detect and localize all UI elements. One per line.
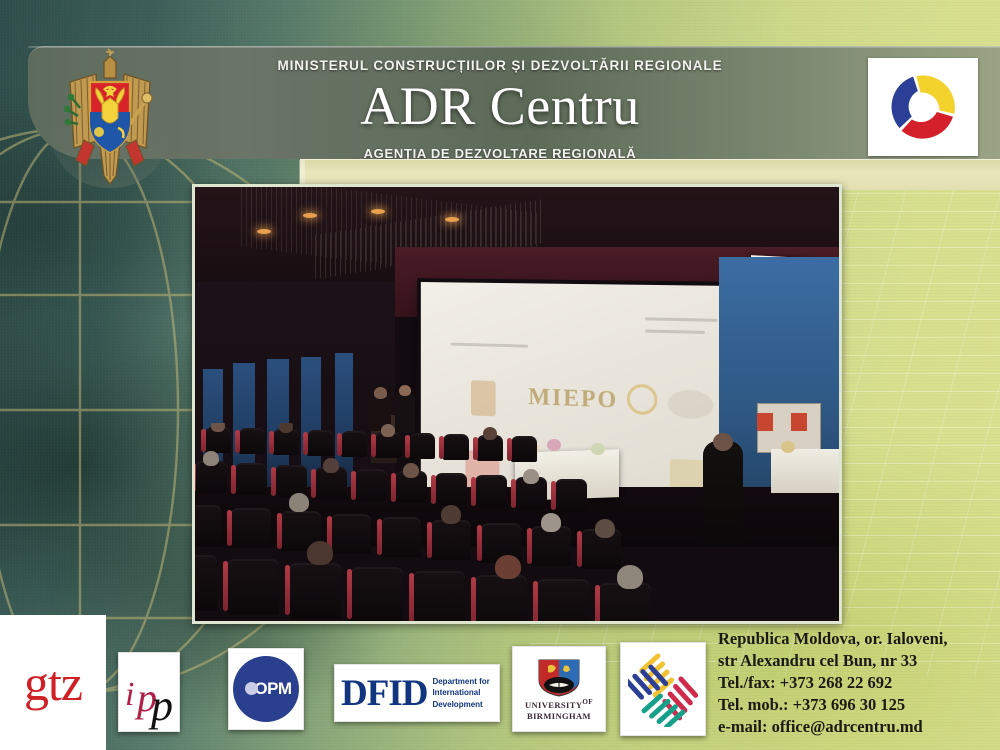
opm-logo: OPM [228,648,304,730]
dfid-sub-line-3: Development [432,699,489,710]
birmingham-of: OF [582,698,593,706]
birmingham-line-1: UNIVERSITY [525,699,582,709]
audience-seating [195,423,839,621]
gtz-logo: gtz [0,615,106,750]
dfid-sublabel: Department for International Development [432,676,489,710]
birmingham-line-2: BIRMINGHAM [527,711,591,721]
dfid-sub-line-2: International [432,687,489,698]
contact-info: Republica Moldova, or. Ialoveni, str Ale… [718,628,998,738]
contact-mobile: Tel. mob.: +373 696 30 125 [718,694,998,716]
ipp-letter-i: i [125,676,134,714]
opm-label: OPM [254,679,291,699]
ipp-letter-p-black: p [151,680,173,731]
page-title: ADR Centru [0,78,1000,135]
contact-telfax: Tel./fax: +373 268 22 692 [718,672,998,694]
slide-root: 3 MULTI MULTI ONI COL OBB VEF SI NN MODU… [0,0,1000,750]
dfid-label: DFID [341,675,427,712]
birmingham-label: UNIVERSITYOF BIRMINGHAM [525,698,593,723]
gtz-label: gtz [24,658,82,708]
birmingham-crest-icon [536,658,582,698]
ministry-title: MINISTERUL CONSTRUCȚIILOR ȘI DEZVOLTĂRII… [0,58,1000,73]
contact-address-line-1: Republica Moldova, or. Ialoveni, [718,628,998,650]
partner-pinwheel-logo [620,642,706,736]
contact-address-line-2: str Alexandru cel Bun, nr 33 [718,650,998,672]
adr-centru-logo [868,58,978,156]
dfid-sub-line-1: Department for [432,676,489,687]
conference-photo: MIEPO [192,184,842,624]
miepo-logo-text: MIEPO [528,384,618,414]
ipp-logo: i p p [118,652,180,732]
opm-dot-icon [245,682,258,695]
contact-email: e-mail: office@adrcentru.md [718,716,998,738]
university-of-birmingham-logo: UNIVERSITYOF BIRMINGHAM [512,646,606,732]
dfid-logo: DFID Department for International Develo… [334,664,500,722]
